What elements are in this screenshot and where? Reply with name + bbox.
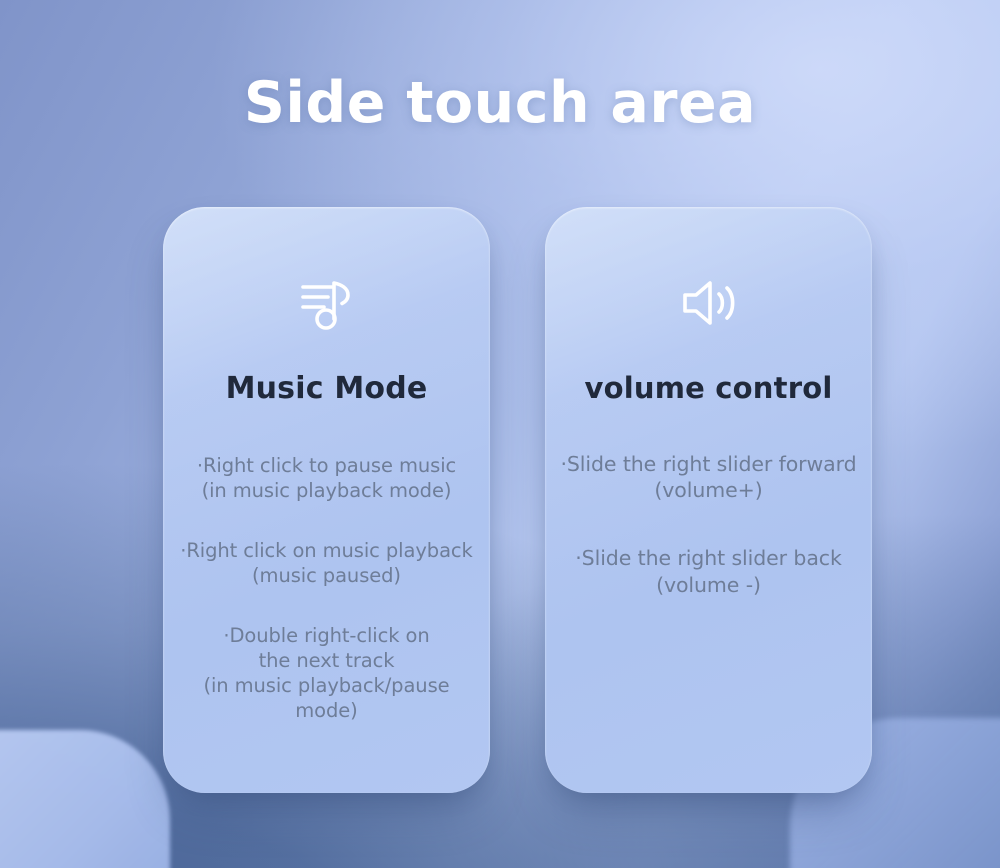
card-volume-control-title: volume control [585, 371, 833, 405]
page-stage: Side touch area Music Mode ·Right click … [0, 0, 1000, 868]
card-music-mode-title: Music Mode [226, 371, 428, 406]
card-volume-control[interactable]: volume control ·Slide the right slider f… [545, 207, 872, 793]
page-title: Side touch area [0, 74, 1000, 134]
card-music-mode[interactable]: Music Mode ·Right click to pause music (… [163, 207, 490, 793]
card-volume-control-body: ·Slide the right slider forward (volume+… [553, 451, 864, 598]
card-volume-control-inner: volume control ·Slide the right slider f… [545, 207, 872, 793]
card-music-mode-body: ·Right click to pause music (in music pl… [171, 454, 482, 724]
card-music-mode-line-1: ·Right click to pause music (in music pl… [197, 454, 456, 504]
card-volume-control-line-2: ·Slide the right slider back (volume -) [575, 545, 841, 597]
card-music-mode-inner: Music Mode ·Right click to pause music (… [163, 207, 490, 793]
card-music-mode-line-2: ·Right click on music playback (music pa… [180, 539, 472, 589]
card-volume-control-line-1: ·Slide the right slider forward (volume+… [560, 451, 856, 503]
card-music-mode-line-3: ·Double right-click on the next track (i… [171, 624, 482, 724]
volume-speaker-icon [677, 267, 741, 339]
music-playlist-icon [294, 267, 360, 339]
